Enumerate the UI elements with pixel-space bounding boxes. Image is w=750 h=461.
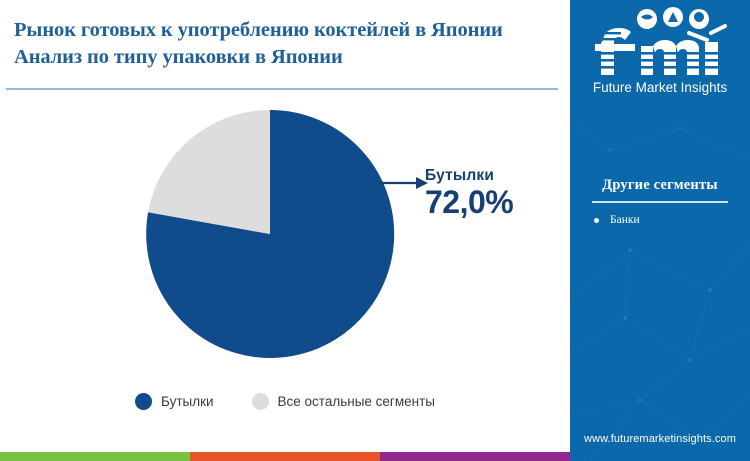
legend-swatch-bottles (135, 393, 152, 410)
title-line-2: Анализ по типу упаковки в Японии (14, 44, 562, 71)
bullet-icon (594, 218, 599, 223)
pie-chart (0, 96, 570, 386)
legend-swatch-other (252, 393, 269, 410)
other-segments-divider (592, 201, 728, 203)
callout-bottles: Бутылки 72,0% (425, 167, 565, 220)
slide-header: Рынок готовых к употреблению коктейлей в… (0, 0, 570, 88)
chart-legend: Бутылки Все остальные сегменты (0, 393, 570, 410)
side-panel: Future Market Insights Другие сегменты Б… (570, 0, 750, 461)
legend-label-bottles: Бутылки (161, 394, 214, 409)
other-segments-title: Другие сегменты (570, 177, 750, 194)
other-segment-label: Банки (610, 212, 640, 228)
slide-canvas: Рынок готовых к употреблению коктейлей в… (0, 0, 750, 461)
main-content-area: Рынок готовых к употреблению коктейлей в… (0, 0, 570, 461)
fmi-logo-icon: Future Market Insights (585, 6, 735, 98)
bar-segment-green (0, 452, 190, 461)
other-segments-list: Банки (594, 212, 744, 233)
bar-segment-orange (190, 452, 380, 461)
legend-label-other: Все остальные сегменты (278, 394, 435, 409)
legend-item-other[interactable]: Все остальные сегменты (252, 393, 435, 410)
page-title: Рынок готовых к употреблению коктейлей в… (14, 17, 562, 71)
callout-arrow-icon (380, 174, 430, 192)
callout-value: 72,0% (425, 184, 565, 220)
callout-label: Бутылки (425, 167, 565, 185)
fmi-logo[interactable]: Future Market Insights (570, 6, 750, 102)
bottom-color-bar (0, 452, 570, 461)
site-url[interactable]: www.futuremarketinsights.com (570, 433, 750, 445)
pie-chart-svg (140, 104, 400, 364)
header-divider (6, 88, 558, 90)
bar-segment-purple (380, 452, 570, 461)
list-item[interactable]: Банки (594, 212, 744, 228)
legend-item-bottles[interactable]: Бутылки (135, 393, 214, 410)
fmi-logo-tagline: Future Market Insights (593, 80, 728, 95)
title-line-1: Рынок готовых к употреблению коктейлей в… (14, 17, 562, 44)
pie-slice-other[interactable] (148, 110, 270, 234)
